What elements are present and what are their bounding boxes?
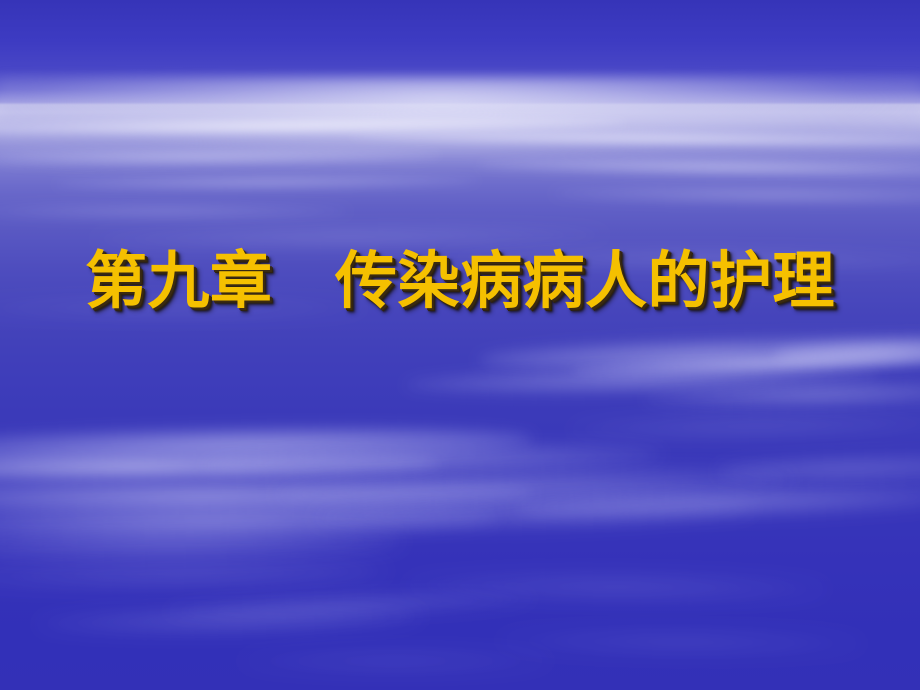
presentation-slide: 第九章 传染病病人的护理 [0, 0, 920, 690]
slide-title-block: 第九章 传染病病人的护理 [0, 248, 920, 313]
horizon-haze-glow [0, 78, 920, 168]
slide-title: 第九章 传染病病人的护理 [85, 248, 835, 313]
